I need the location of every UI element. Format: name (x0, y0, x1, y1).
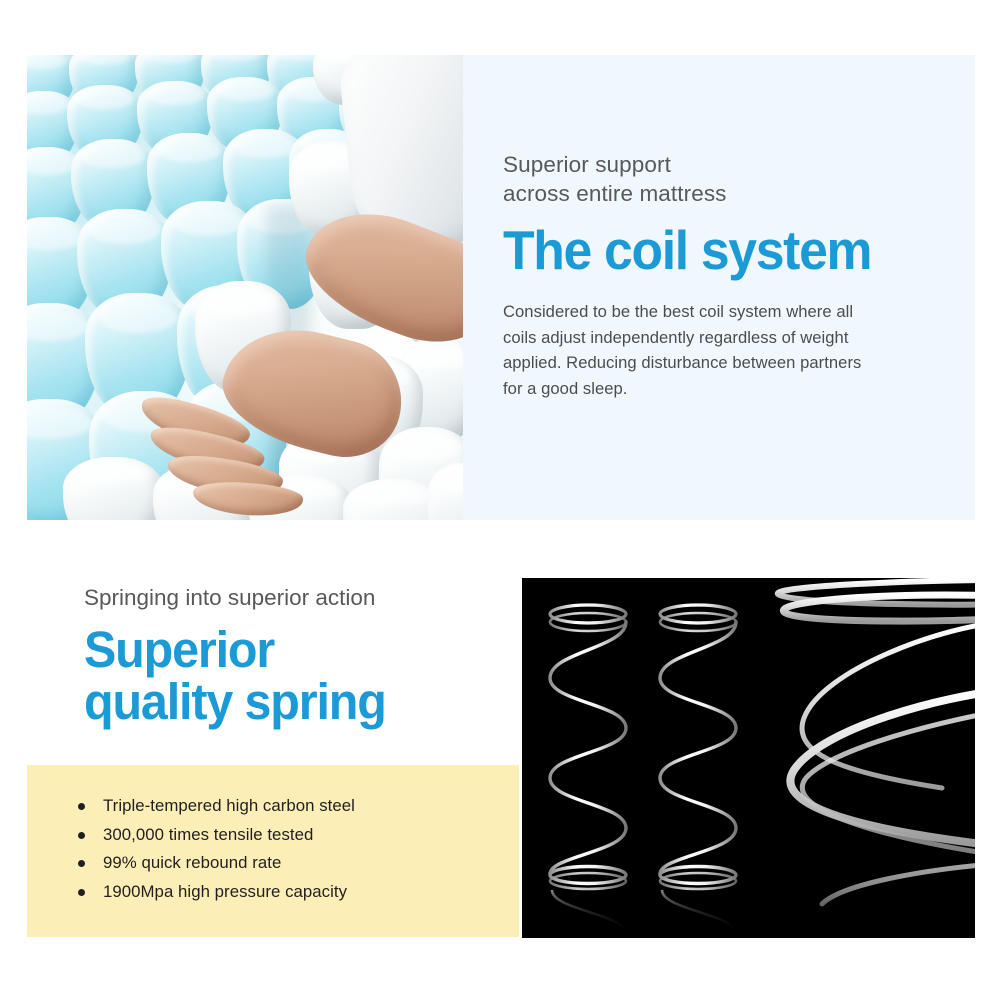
coil-headline: The coil system (503, 220, 898, 280)
coil-body-copy: Considered to be the best coil system wh… (503, 299, 885, 401)
list-item: 99% quick rebound rate (76, 849, 355, 878)
list-item: 300,000 times tensile tested (76, 821, 355, 850)
spring-headline: Superior quality spring (84, 624, 483, 728)
mattress-coil-photo (27, 55, 463, 520)
spring-illustration (522, 578, 975, 938)
feature-panel: Triple-tempered high carbon steel 300,00… (27, 765, 519, 937)
feature-text: 300,000 times tensile tested (103, 825, 313, 844)
bullet-icon (78, 860, 85, 867)
feature-text: 1900Mpa high pressure capacity (103, 882, 347, 901)
coil-unit (63, 457, 163, 520)
bullet-icon (78, 889, 85, 896)
bullet-icon (78, 803, 85, 810)
feature-list: Triple-tempered high carbon steel 300,00… (76, 792, 355, 906)
list-item: Triple-tempered high carbon steel (76, 792, 355, 821)
spring-kicker: Springing into superior action (84, 583, 504, 613)
list-item: 1900Mpa high pressure capacity (76, 878, 355, 907)
coil-section-text: Superior support across entire mattress … (503, 150, 923, 401)
infographic-page: Superior support across entire mattress … (0, 0, 1000, 1000)
bullet-icon (78, 832, 85, 839)
feature-text: 99% quick rebound rate (103, 853, 281, 872)
spring-photo (522, 578, 975, 938)
coil-kicker: Superior support across entire mattress (503, 150, 923, 208)
spring-section-text: Springing into superior action Superior … (84, 583, 504, 728)
feature-text: Triple-tempered high carbon steel (103, 796, 355, 815)
